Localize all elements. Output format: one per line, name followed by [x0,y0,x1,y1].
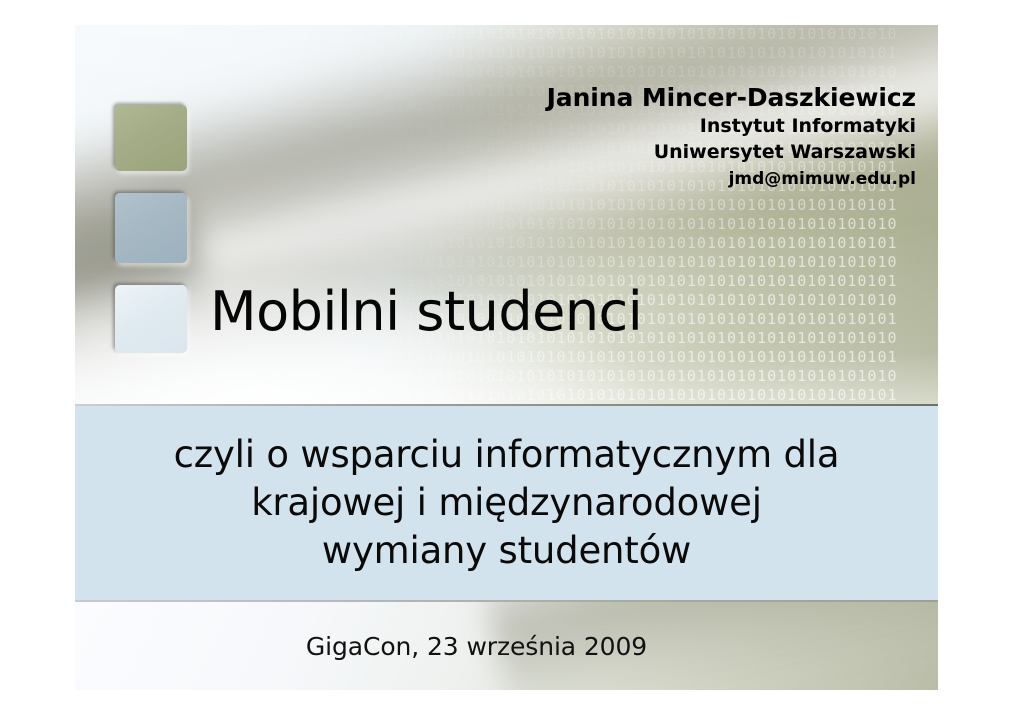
title-slide: 1010101010101010101010101010101010101010… [75,25,938,690]
pale-blue-square-icon [115,285,187,353]
decorative-squares [115,105,193,375]
header-vertical-sheen [75,25,938,405]
footer-event-text: GigaCon, 23 września 2009 [75,602,938,690]
subtitle-band: czyli o wsparciu informatycznym dla kraj… [75,406,938,600]
subtitle-line-1: czyli o wsparciu informatycznym dla [174,431,840,479]
author-block: Janina Mincer-Daszkiewicz Instytut Infor… [547,83,916,193]
khaki-square-icon [115,105,187,171]
slide-header-image: 1010101010101010101010101010101010101010… [75,25,938,405]
subtitle-line-3: wymiany studentów [174,527,840,575]
slide-title: Mobilni studenci [210,280,642,343]
author-email: jmd@mimuw.edu.pl [547,167,916,193]
blue-grey-square-icon [115,193,187,263]
footer-band: GigaCon, 23 września 2009 [75,602,938,690]
author-institute: Instytut Informatyki [547,113,916,140]
author-university: Uniwersytet Warszawski [547,139,916,166]
slide-subtitle: czyli o wsparciu informatycznym dla kraj… [174,431,840,575]
slide-page: { "slide": { "header": { "author": "Jani… [0,0,1024,724]
subtitle-line-2: krajowej i międzynarodowej [174,479,840,527]
author-name: Janina Mincer-Daszkiewicz [547,83,916,113]
